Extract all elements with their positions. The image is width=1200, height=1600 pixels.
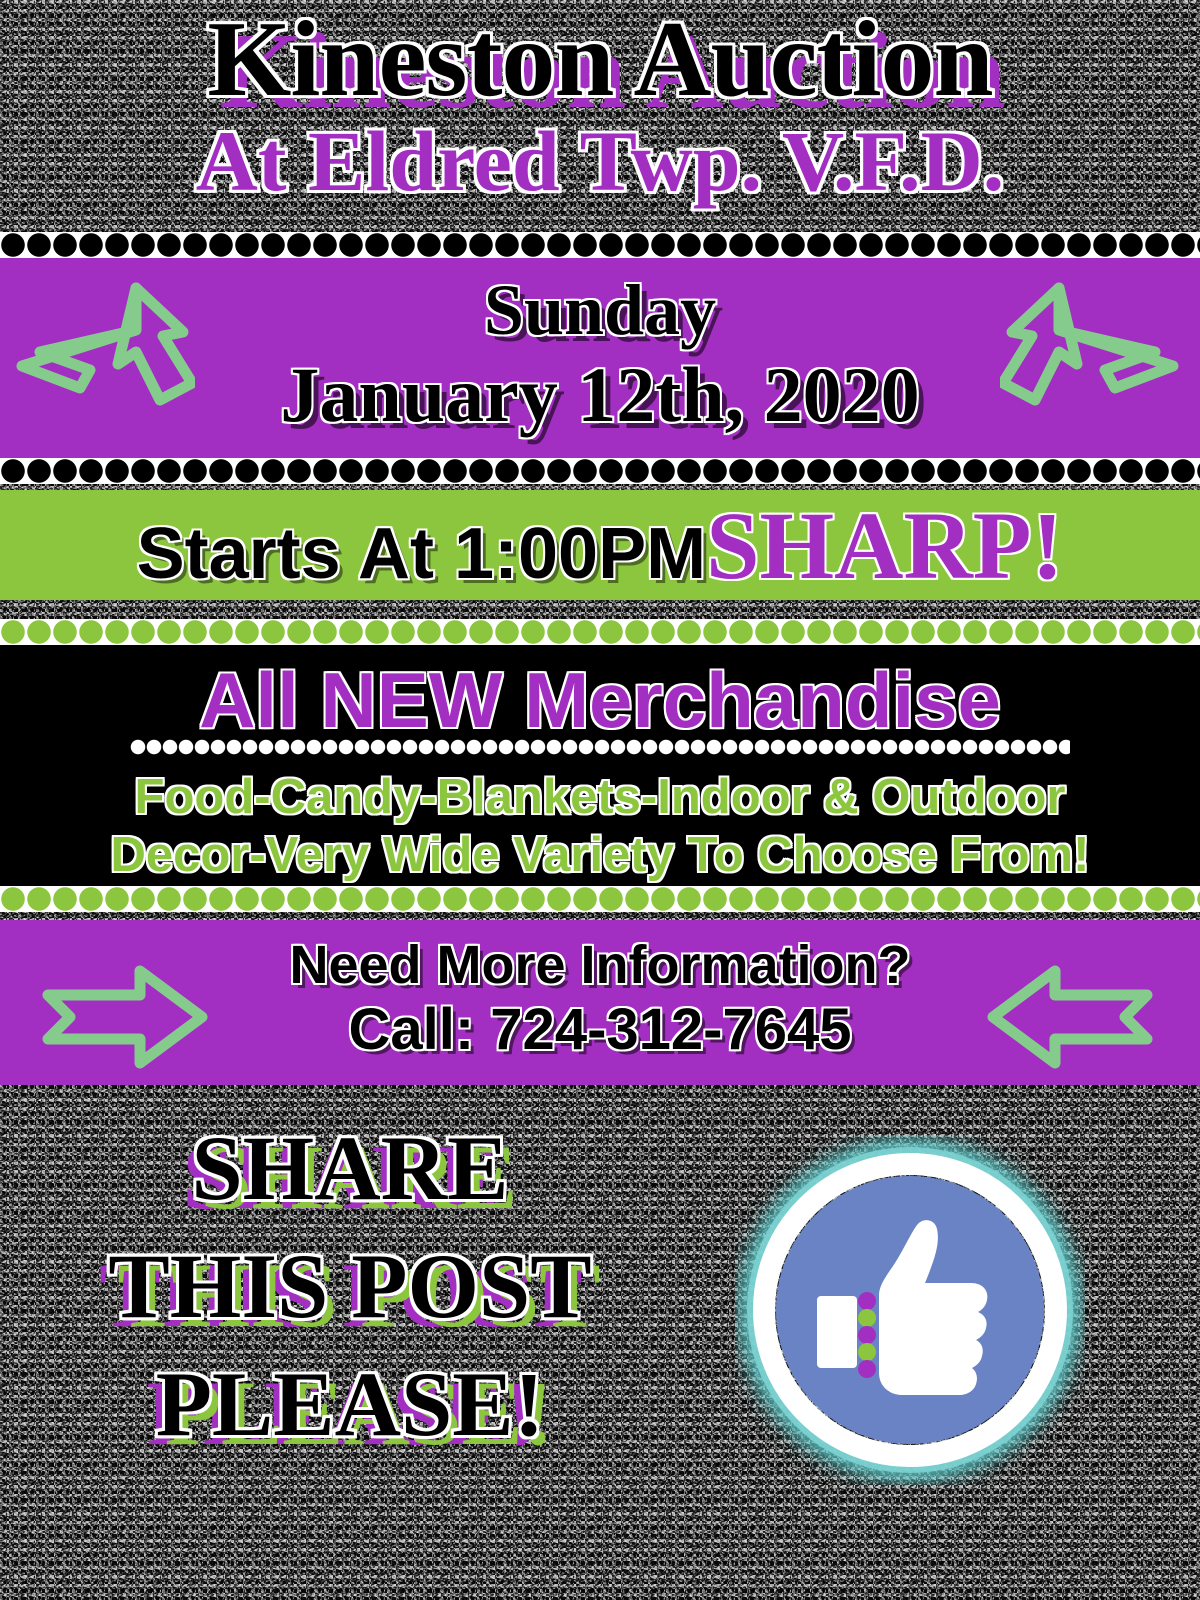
arrow-right-icon <box>40 965 210 1070</box>
bead-divider-time-bottom <box>0 619 1200 645</box>
page-title: Kineston Auction <box>0 0 1200 114</box>
time-line: Starts At 1:00PMSHARP! <box>137 490 1064 601</box>
arrow-down-left-icon <box>1000 278 1185 408</box>
merchandise-line-1: Food-Candy-Blankets-Indoor & Outdoor <box>0 769 1200 827</box>
thumbs-up-icon[interactable] <box>735 1135 1085 1485</box>
share-line-1: SHARE <box>30 1110 670 1228</box>
share-line-3: PLEASE! <box>30 1346 670 1464</box>
arrow-left-icon <box>985 965 1155 1070</box>
bead-divider-top <box>0 232 1200 258</box>
page-subtitle: At Eldred Twp. V.F.D. <box>0 114 1200 204</box>
merchandise-detail-list: Food-Candy-Blankets-Indoor & Outdoor Dec… <box>0 755 1200 885</box>
merchandise-section: All NEW Merchandise Food-Candy-Blankets-… <box>0 645 1200 910</box>
share-line-2: THIS POST <box>30 1228 670 1346</box>
bracelet-beads <box>858 1292 876 1378</box>
header-section: Kineston Auction At Eldred Twp. V.F.D. <box>0 0 1200 232</box>
arrow-down-right-icon <box>10 278 195 408</box>
share-call-to-action: SHARE THIS POST PLEASE! <box>30 1110 670 1463</box>
time-section: Starts At 1:00PMSHARP! <box>0 490 1200 600</box>
bead-divider-merch-bottom <box>0 886 1200 912</box>
bead-underline-merch <box>130 739 1070 755</box>
auction-flyer: Kineston Auction At Eldred Twp. V.F.D. S… <box>0 0 1200 1600</box>
sharp-emphasis: SHARP! <box>706 492 1063 599</box>
start-time-label: Starts At 1:00PM <box>137 514 707 594</box>
merchandise-line-2: Decor-Very Wide Variety To Choose From! <box>0 827 1200 885</box>
bead-divider-date-bottom <box>0 458 1200 484</box>
merchandise-headline: All NEW Merchandise <box>0 645 1200 739</box>
